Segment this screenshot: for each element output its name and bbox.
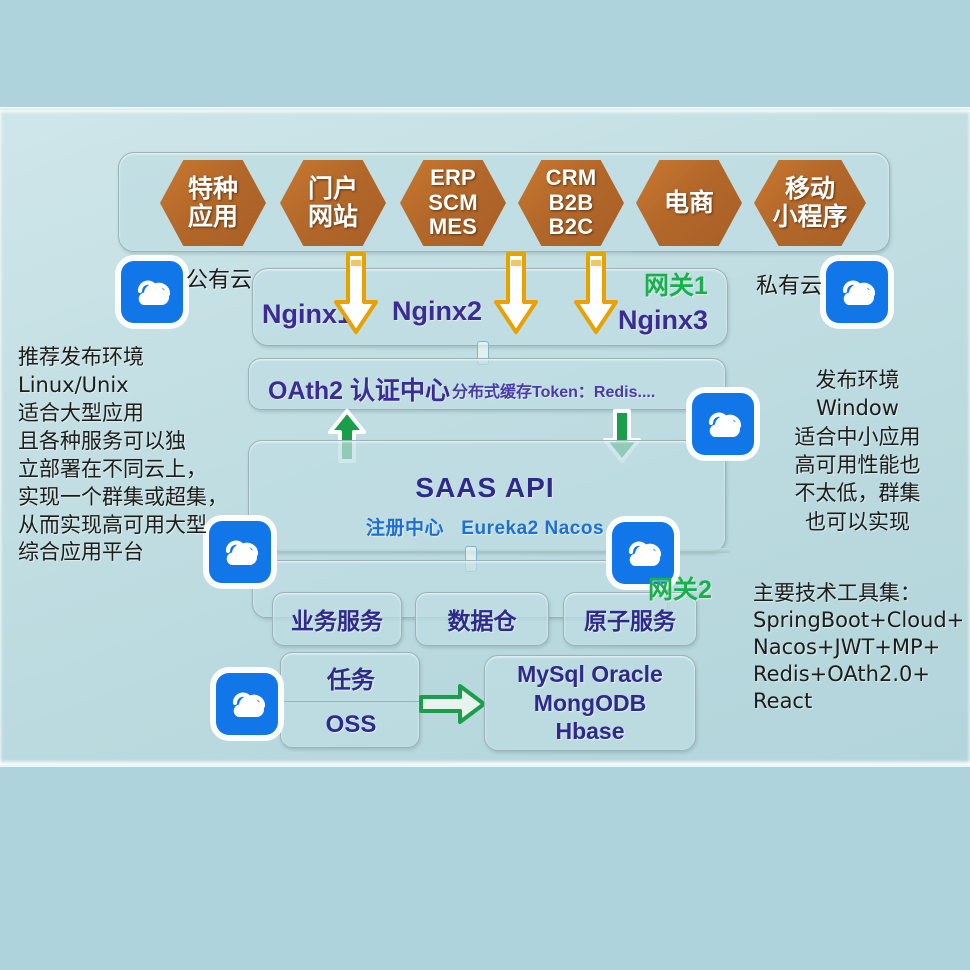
app-hexagon-3[interactable]: CRM B2B B2C [518, 160, 624, 246]
app-label: 特种 应用 [188, 175, 238, 231]
database-label: MySql Oracle MongODB Hbase [517, 660, 663, 746]
app-hexagon-1[interactable]: 门户 网站 [280, 160, 386, 246]
gateway1-label: 网关1 [644, 266, 708, 302]
private-cloud-label: 私有云 [756, 268, 822, 300]
oss-cell[interactable]: OSS [281, 701, 421, 749]
oauth-title: OAth2 认证中心 [268, 371, 450, 407]
arrow-down-icon [333, 252, 379, 336]
arrow-right-icon [418, 682, 488, 726]
gateway2-label: 网关2 [648, 570, 712, 606]
service-box-datawarehouse[interactable]: 数据仓 [415, 592, 549, 646]
note-tech-stack: 主要技术工具集： SpringBoot+Cloud+ Nacos+JWT+MP+… [753, 580, 968, 714]
cloud-icon-public[interactable] [121, 261, 183, 323]
note-right-environment: 发布环境 Window 适合中小应用 高可用性能也 不太低，群集 也可以实现 [750, 366, 965, 536]
app-hexagon-2[interactable]: ERP SCM MES [400, 160, 506, 246]
diagram-canvas: 特种 应用 门户 网站 ERP SCM MES CRM B2B B2C 电商 移… [0, 0, 970, 970]
app-label: 移动 小程序 [772, 175, 847, 231]
public-cloud-label: 公有云 [186, 262, 252, 294]
cloud-icon [835, 275, 879, 309]
database-box[interactable]: MySql Oracle MongODB Hbase [484, 655, 696, 751]
service-box-business[interactable]: 业务服务 [272, 592, 402, 646]
nginx3-label[interactable]: Nginx3 [618, 305, 708, 336]
oauth-subtitle: 分布式缓存Token：Redis.... [452, 378, 655, 402]
note-left-environment: 推荐发布环境 Linux/Unix 适合大型应用 且各种服务可以独 立部署在不同… [18, 344, 248, 567]
registry-label: 注册中心 [366, 517, 444, 539]
cloud-icon [621, 536, 665, 570]
app-hexagon-4[interactable]: 电商 [636, 160, 742, 246]
cloud-icon-oauth[interactable] [692, 393, 754, 455]
cloud-icon [130, 275, 174, 309]
cloud-icon-storage[interactable] [216, 673, 278, 735]
nginx2-label[interactable]: Nginx2 [392, 296, 482, 327]
cloud-icon [701, 407, 745, 441]
registry-items: Eureka2 Nacos [461, 518, 604, 539]
app-label: 门户 网站 [308, 175, 358, 231]
app-label: CRM B2B B2C [546, 166, 597, 240]
app-hexagon-0[interactable]: 特种 应用 [160, 160, 266, 246]
cloud-icon-private[interactable] [826, 261, 888, 323]
task-oss-container: 任务 OSS [280, 652, 420, 748]
arrow-down-icon [493, 252, 539, 336]
cloud-icon [225, 687, 269, 721]
app-label: 电商 [664, 189, 714, 217]
app-hexagon-5[interactable]: 移动 小程序 [754, 160, 866, 246]
arrow-down-icon [573, 252, 619, 336]
app-label: ERP SCM MES [428, 166, 478, 240]
task-cell[interactable]: 任务 [281, 653, 421, 702]
